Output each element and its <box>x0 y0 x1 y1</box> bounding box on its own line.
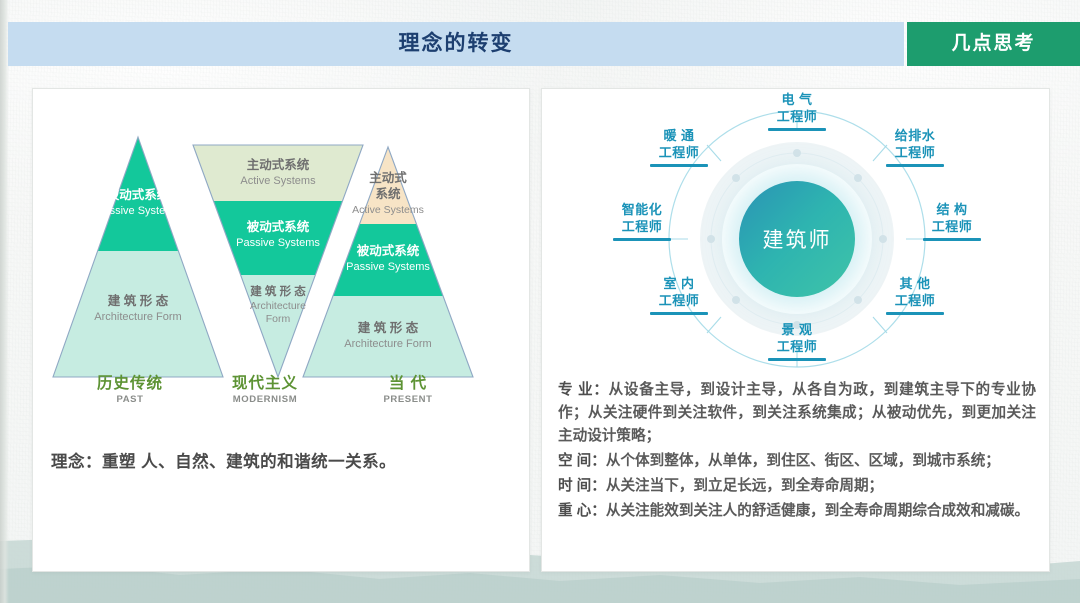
role-electrical-line2: 工程师 <box>757 108 837 125</box>
role-structural-line2: 工程师 <box>912 218 992 235</box>
role-plumbing-line2: 工程师 <box>875 144 955 161</box>
role-landscape-line2: 工程师 <box>757 338 837 355</box>
role-structural-line1: 结 构 <box>912 201 992 218</box>
point-text-profession: 从设备主导，到设计主导，从各自为政，到建筑主导下的专业协作；从关注硬件到关注软件… <box>558 382 1036 444</box>
point-key-focus: 重 心： <box>558 503 606 519</box>
pyr-modern-layer3-cn: 建 筑 形 态 <box>250 284 306 298</box>
point-key-profession: 专 业： <box>558 382 609 398</box>
pyr-present-layer1-en: Active Systems <box>352 204 424 216</box>
left-content-card: 被动式系统 Passive Systems 建 筑 形 态 Architectu… <box>32 88 530 572</box>
role-label-landscape[interactable]: 景 观 工程师 <box>757 321 837 361</box>
section-badge: 几点思考 <box>907 22 1080 66</box>
era-label-modernism-cn: 现代主义 <box>190 375 340 393</box>
page-title: 理念的转变 <box>8 22 904 66</box>
pyr-present-layer2-cn: 被动式系统 <box>357 243 420 258</box>
role-intelligent-line1: 智能化 <box>602 201 682 218</box>
era-label-modernism-en: MODERNISM <box>190 393 340 406</box>
role-underline-bar <box>923 238 981 241</box>
era-label-past: 历史传统 PAST <box>55 375 205 406</box>
pyr-past-layer2-en: Architecture Form <box>94 311 181 323</box>
role-electrical-line1: 电 气 <box>757 91 837 108</box>
ring-node-dot <box>854 296 862 304</box>
role-underline-bar <box>613 238 671 241</box>
era-label-past-cn: 历史传统 <box>55 375 205 393</box>
role-label-plumbing[interactable]: 给排水 工程师 <box>875 127 955 167</box>
role-hvac-line2: 工程师 <box>639 144 719 161</box>
role-label-structural[interactable]: 结 构 工程师 <box>912 201 992 241</box>
pyr-modern-layer1-en: Active Systems <box>240 175 316 187</box>
pyr-present-layer3-cn: 建 筑 形 态 <box>358 320 419 335</box>
point-item: 重 心：从关注能效到关注人的舒适健康，到全寿命周期综合成效和减碳。 <box>558 500 1036 523</box>
role-other-line2: 工程师 <box>875 292 955 309</box>
role-plumbing-line1: 给排水 <box>875 127 955 144</box>
pyr-past-layer1-en: Passive Systems <box>96 205 180 217</box>
section-badge-label: 几点思考 <box>907 22 1080 66</box>
pyr-modern-layer3-en-2: Form <box>266 313 291 325</box>
point-item: 专 业：从设备主导，到设计主导，从各自为政，到建筑主导下的专业协作；从关注硬件到… <box>558 379 1036 448</box>
slide-header: 理念的转变 几点思考 <box>8 22 1080 66</box>
point-text-time: 从关注当下，到立足长远，到全寿命周期； <box>606 478 883 494</box>
pyramid-era-labels: 历史传统 PAST 现代主义 MODERNISM 当 代 PRESENT <box>33 375 529 421</box>
role-underline-bar <box>650 312 708 315</box>
ring-node-dot <box>732 174 740 182</box>
ring-node-dot <box>707 235 715 243</box>
point-text-focus: 从关注能效到关注人的舒适健康，到全寿命周期综合成效和减碳。 <box>606 503 1029 519</box>
role-label-other[interactable]: 其 他 工程师 <box>875 275 955 315</box>
role-label-intelligent[interactable]: 智能化 工程师 <box>602 201 682 241</box>
point-item: 空 间：从个体到整体，从单体，到住区、街区、区域，到城市系统； <box>558 450 1036 473</box>
title-bar: 理念的转变 <box>8 22 904 66</box>
key-points-list: 专 业：从设备主导，到设计主导，从各自为政，到建筑主导下的专业协作；从关注硬件到… <box>558 379 1036 525</box>
role-underline-bar <box>886 312 944 315</box>
role-other-line1: 其 他 <box>875 275 955 292</box>
era-label-present: 当 代 PRESENT <box>333 375 483 406</box>
point-key-time: 时 间： <box>558 478 606 494</box>
pyr-present-layer1-cn-2: 系统 <box>375 186 401 201</box>
left-edge-shadow <box>0 0 9 603</box>
pyr-present-layer3-en: Architecture Form <box>344 338 431 350</box>
core-architect-label: 建筑师 <box>763 224 832 254</box>
pyr-modern-layer1-cn: 主动式系统 <box>247 157 310 172</box>
role-label-hvac[interactable]: 暖 通 工程师 <box>639 127 719 167</box>
pyr-modern-layer3-en-1: Architecture <box>250 300 306 312</box>
era-label-present-en: PRESENT <box>333 393 483 406</box>
role-intelligent-line2: 工程师 <box>602 218 682 235</box>
role-landscape-line1: 景 观 <box>757 321 837 338</box>
role-underline-bar <box>768 128 826 131</box>
right-content-card: 建筑师 电 气 工程师 给排水 工程师 结 构 工程师 其 他 工程师 景 观 … <box>541 88 1050 572</box>
ring-node-dot <box>879 235 887 243</box>
role-interior-line2: 工程师 <box>639 292 719 309</box>
role-underline-bar <box>768 358 826 361</box>
core-architect-node: 建筑师 <box>739 181 855 297</box>
ring-node-dot <box>793 149 801 157</box>
concept-statement: 理念：重塑 人、自然、建筑的和谐统一关系。 <box>51 449 511 475</box>
ring-node-dot <box>732 296 740 304</box>
era-label-past-en: PAST <box>55 393 205 406</box>
role-underline-bar <box>650 164 708 167</box>
point-item: 时 间：从关注当下，到立足长远，到全寿命周期； <box>558 475 1036 498</box>
pyr-modern-layer2-en: Passive Systems <box>236 237 320 249</box>
pyr-modern-layer2-cn: 被动式系统 <box>247 219 310 234</box>
role-underline-bar <box>886 164 944 167</box>
role-hvac-line1: 暖 通 <box>639 127 719 144</box>
ring-node-dot <box>854 174 862 182</box>
role-interior-line1: 室 内 <box>639 275 719 292</box>
point-text-space: 从个体到整体，从单体，到住区、街区、区域，到城市系统； <box>606 453 1000 469</box>
era-label-modernism: 现代主义 MODERNISM <box>190 375 340 406</box>
architect-collaboration-diagram: 建筑师 电 气 工程师 给排水 工程师 结 构 工程师 其 他 工程师 景 观 … <box>542 89 1049 389</box>
era-label-present-cn: 当 代 <box>333 375 483 393</box>
point-key-space: 空 间： <box>558 453 606 469</box>
pyr-present-layer1-cn-1: 主动式 <box>369 170 407 185</box>
pyr-present-layer2-en: Passive Systems <box>346 261 430 273</box>
role-label-interior[interactable]: 室 内 工程师 <box>639 275 719 315</box>
role-label-electrical[interactable]: 电 气 工程师 <box>757 91 837 131</box>
pyr-past-layer1-cn: 被动式系统 <box>107 187 170 202</box>
pyramid-comparison-diagram: 被动式系统 Passive Systems 建 筑 形 态 Architectu… <box>33 89 529 389</box>
pyr-past-layer2-cn: 建 筑 形 态 <box>108 293 169 308</box>
